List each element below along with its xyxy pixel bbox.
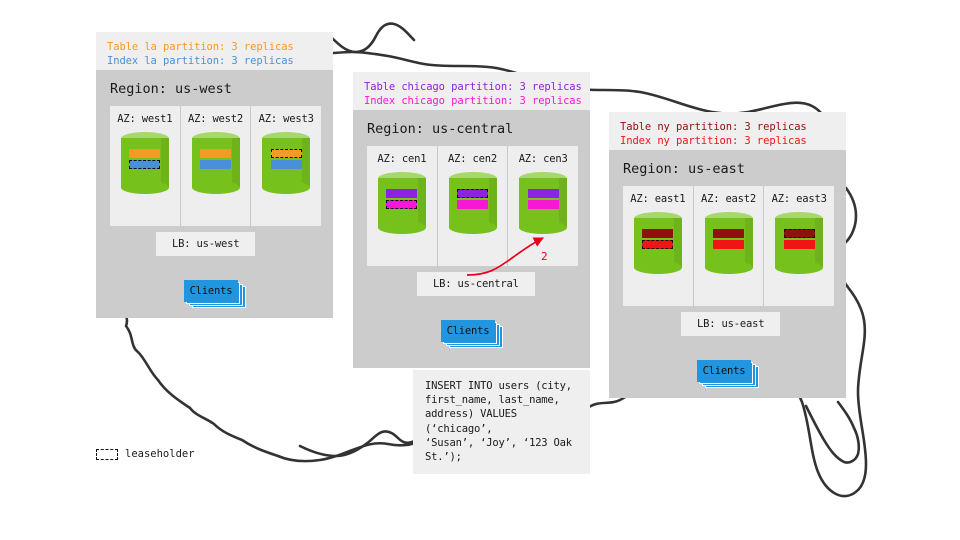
clients-us-central[interactable]: Clients xyxy=(441,320,503,348)
table-partition-line: Table chicago partition: 3 replicas xyxy=(364,81,579,95)
az-cen2[interactable]: AZ: cen2 xyxy=(438,146,509,266)
replica-bar-table-leaseholder xyxy=(457,189,488,198)
replica-bar-index-leaseholder xyxy=(129,160,160,169)
replica-bar-table xyxy=(200,149,231,158)
az-west1[interactable]: AZ: west1 xyxy=(110,106,181,226)
node-cylinder[interactable] xyxy=(378,172,426,234)
node-cylinder[interactable] xyxy=(121,132,169,194)
region-title: Region: us-east xyxy=(609,150,846,186)
region-us-east: Table ny partition: 3 replicas Index ny … xyxy=(609,112,846,398)
replica-bar-table xyxy=(129,149,160,158)
dashed-rect-icon xyxy=(96,449,118,460)
node-cylinder[interactable] xyxy=(449,172,497,234)
cylinder-bottom xyxy=(634,261,682,274)
clients-us-east[interactable]: Clients xyxy=(697,360,759,388)
replica-bar-index xyxy=(200,160,231,169)
replica-bar-index xyxy=(528,200,559,209)
replica-bars xyxy=(705,229,753,249)
region-header-us-west: Table la partition: 3 replicas Index la … xyxy=(96,32,333,70)
az-cen3[interactable]: AZ: cen3 xyxy=(508,146,578,266)
sql-statement-box: INSERT INTO users (city, first_name, las… xyxy=(413,370,590,474)
cylinder-bottom xyxy=(775,261,823,274)
cylinder-bottom xyxy=(121,181,169,194)
clients-button-label[interactable]: Clients xyxy=(697,360,751,382)
az-label: AZ: east2 xyxy=(694,193,764,205)
index-partition-line: Index ny partition: 3 replicas xyxy=(620,135,835,149)
replica-bar-table xyxy=(713,229,744,238)
az-label: AZ: west1 xyxy=(110,113,180,125)
az-row: AZ: cen1 AZ: cen2 xyxy=(367,146,578,266)
legend-label: leaseholder xyxy=(125,448,195,460)
replica-bar-table xyxy=(642,229,673,238)
az-east3[interactable]: AZ: east3 xyxy=(764,186,834,306)
replica-bar-table xyxy=(386,189,417,198)
cylinder-bottom xyxy=(378,221,426,234)
node-cylinder[interactable] xyxy=(775,212,823,274)
cylinder-bottom xyxy=(519,221,567,234)
replica-bars xyxy=(449,189,497,209)
cylinder-bottom xyxy=(449,221,497,234)
index-partition-line: Index la partition: 3 replicas xyxy=(107,55,322,69)
node-cylinder[interactable] xyxy=(705,212,753,274)
az-west2[interactable]: AZ: west2 xyxy=(181,106,252,226)
table-partition-line: Table la partition: 3 replicas xyxy=(107,41,322,55)
replica-bar-index xyxy=(784,240,815,249)
region-us-central: Table chicago partition: 3 replicas Inde… xyxy=(353,72,590,368)
az-east2[interactable]: AZ: east2 xyxy=(694,186,765,306)
replica-bars xyxy=(775,229,823,249)
az-label: AZ: cen1 xyxy=(367,153,437,165)
node-cylinder[interactable] xyxy=(262,132,310,194)
node-cylinder[interactable] xyxy=(519,172,567,234)
load-balancer-us-central[interactable]: LB: us-central xyxy=(417,272,535,296)
az-label: AZ: east1 xyxy=(623,193,693,205)
cylinder-bottom xyxy=(705,261,753,274)
region-header-us-central: Table chicago partition: 3 replicas Inde… xyxy=(353,72,590,110)
node-cylinder[interactable] xyxy=(634,212,682,274)
replica-bars xyxy=(262,149,310,169)
replica-bar-index xyxy=(271,160,302,169)
az-label: AZ: cen3 xyxy=(508,153,578,165)
table-partition-line: Table ny partition: 3 replicas xyxy=(620,121,835,135)
replica-bar-table-leaseholder xyxy=(784,229,815,238)
node-cylinder[interactable] xyxy=(192,132,240,194)
az-cen1[interactable]: AZ: cen1 xyxy=(367,146,438,266)
replica-bars xyxy=(192,149,240,169)
replica-bar-index-leaseholder xyxy=(386,200,417,209)
az-west3[interactable]: AZ: west3 xyxy=(251,106,321,226)
legend: leaseholder xyxy=(96,448,195,460)
replica-bars xyxy=(378,189,426,209)
region-title: Region: us-west xyxy=(96,70,333,106)
index-partition-line: Index chicago partition: 3 replicas xyxy=(364,95,579,109)
clients-button-label[interactable]: Clients xyxy=(184,280,238,302)
load-balancer-us-west[interactable]: LB: us-west xyxy=(156,232,255,256)
replica-bar-table-leaseholder xyxy=(271,149,302,158)
replica-bar-index xyxy=(713,240,744,249)
annotation-step-number: 2 xyxy=(541,250,548,263)
az-label: AZ: cen2 xyxy=(438,153,508,165)
region-title: Region: us-central xyxy=(353,110,590,146)
diagram-canvas: Table la partition: 3 replicas Index la … xyxy=(0,0,960,540)
az-row: AZ: west1 AZ: west2 xyxy=(110,106,321,226)
replica-bar-index-leaseholder xyxy=(642,240,673,249)
load-balancer-us-east[interactable]: LB: us-east xyxy=(681,312,780,336)
cylinder-bottom xyxy=(192,181,240,194)
replica-bars xyxy=(519,189,567,209)
az-east1[interactable]: AZ: east1 xyxy=(623,186,694,306)
replica-bar-table xyxy=(528,189,559,198)
replica-bars xyxy=(121,149,169,169)
az-label: AZ: west3 xyxy=(251,113,321,125)
replica-bars xyxy=(634,229,682,249)
cylinder-bottom xyxy=(262,181,310,194)
replica-bar-index xyxy=(457,200,488,209)
az-row: AZ: east1 AZ: east2 xyxy=(623,186,834,306)
clients-button-label[interactable]: Clients xyxy=(441,320,495,342)
az-label: AZ: east3 xyxy=(764,193,834,205)
clients-us-west[interactable]: Clients xyxy=(184,280,246,308)
region-us-west: Table la partition: 3 replicas Index la … xyxy=(96,32,333,318)
az-label: AZ: west2 xyxy=(181,113,251,125)
region-header-us-east: Table ny partition: 3 replicas Index ny … xyxy=(609,112,846,150)
